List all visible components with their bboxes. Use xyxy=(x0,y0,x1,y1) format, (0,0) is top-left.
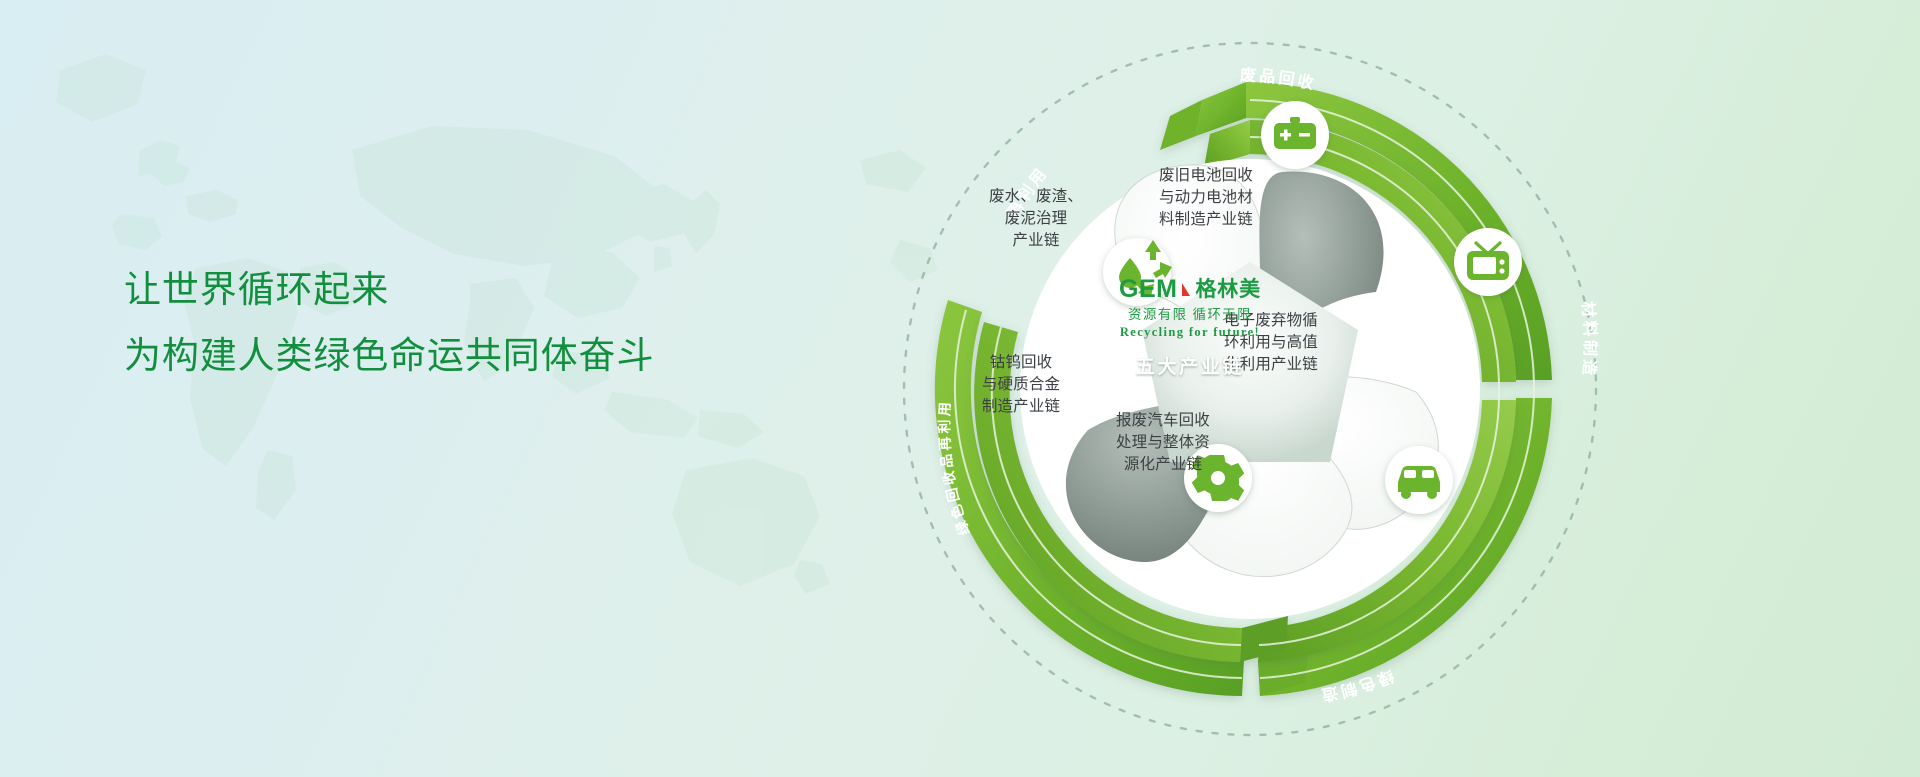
ring-label-reuse: 再利用 xyxy=(1004,164,1052,222)
diagram-svg: 再利用 废品回收 材料制造 绿色制造 绿色回收品再利用 xyxy=(830,0,1730,777)
television-icon xyxy=(1454,228,1522,296)
battery-icon xyxy=(1261,101,1329,169)
headline-block: 让世界循环起来 为构建人类绿色命运共同体奋斗 xyxy=(124,262,884,384)
headline-line-2: 为构建人类绿色命运共同体奋斗 xyxy=(124,328,884,384)
gear-icon xyxy=(1184,444,1252,512)
car-icon xyxy=(1385,446,1453,514)
headline-line-1: 让世界循环起来 xyxy=(124,262,884,318)
ring-label-material-manufacture: 材料制造 xyxy=(1578,300,1600,379)
industry-chain-diagram: 再利用 废品回收 材料制造 绿色制造 绿色回收品再利用 废水、废渣、 废泥治理 … xyxy=(830,0,1730,777)
